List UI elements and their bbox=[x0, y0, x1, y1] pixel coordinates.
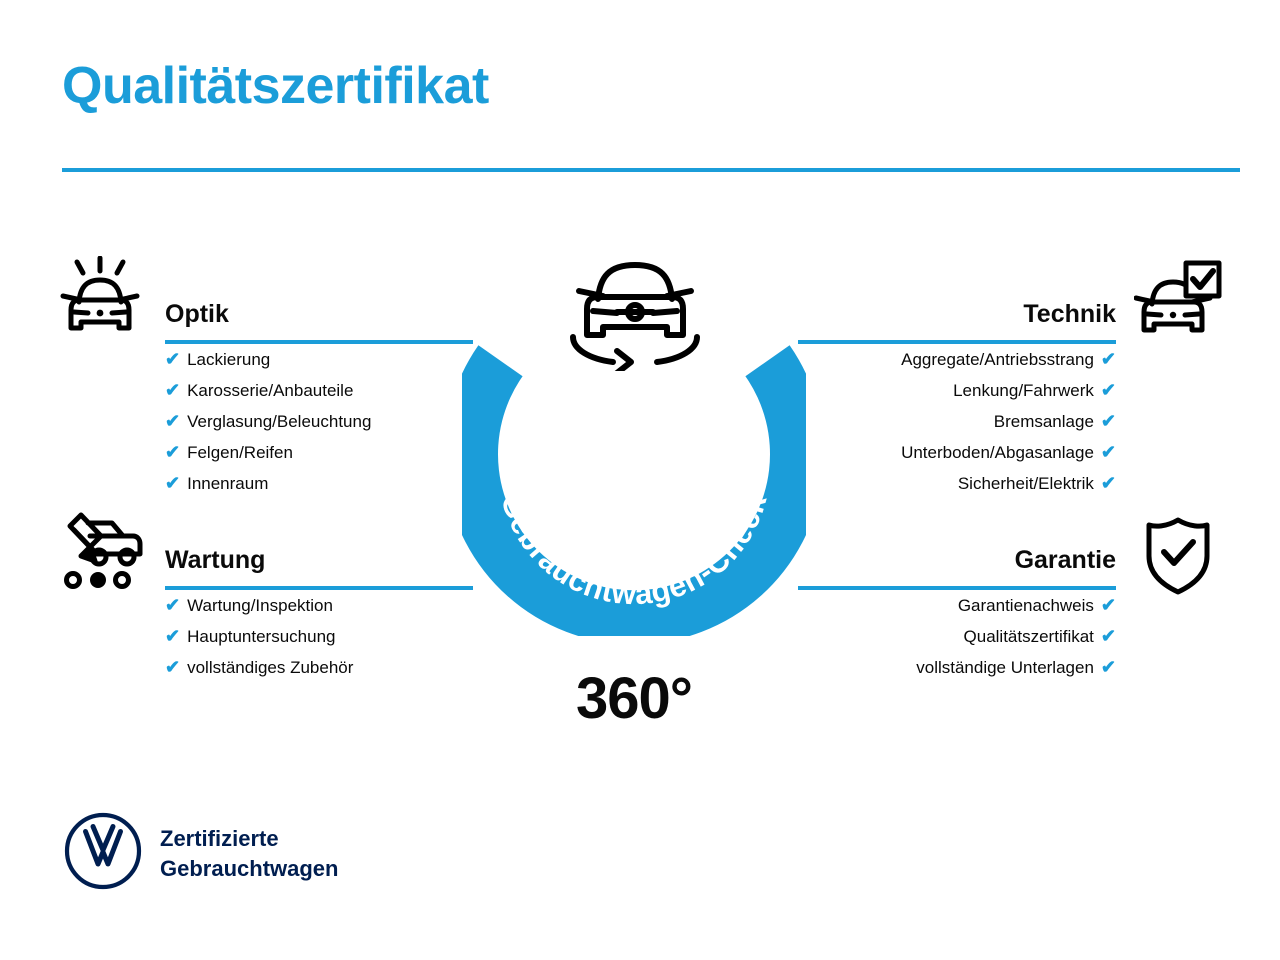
check-icon: ✔ bbox=[165, 468, 180, 498]
list-item: Sicherheit/Elektrik✔ bbox=[798, 468, 1116, 499]
list-item: ✔Wartung/Inspektion bbox=[165, 590, 473, 621]
section-garantie-divider bbox=[798, 586, 1116, 590]
check-icon: ✔ bbox=[1101, 344, 1116, 374]
list-item: Lenkung/Fahrwerk✔ bbox=[798, 375, 1116, 406]
shield-check-icon bbox=[1143, 516, 1213, 601]
section-wartung-title: Wartung bbox=[165, 544, 473, 576]
section-garantie: Garantie Garantienachweis✔Qualitätszerti… bbox=[798, 544, 1116, 683]
check-icon: ✔ bbox=[1101, 437, 1116, 467]
car-polish-icon bbox=[57, 256, 143, 347]
check-icon: ✔ bbox=[165, 437, 180, 467]
list-item-label: Lenkung/Fahrwerk bbox=[953, 381, 1094, 400]
list-item: vollständige Unterlagen✔ bbox=[798, 652, 1116, 683]
list-item-label: Aggregate/Antriebsstrang bbox=[901, 350, 1094, 369]
badge-value: 360° bbox=[462, 665, 806, 732]
list-item-label: Innenraum bbox=[187, 474, 268, 493]
section-optik-title: Optik bbox=[165, 298, 473, 330]
section-optik-list: ✔Lackierung✔Karosserie/Anbauteile✔Vergla… bbox=[165, 344, 473, 499]
list-item-label: Karosserie/Anbauteile bbox=[187, 381, 353, 400]
car-rotation-icon bbox=[565, 251, 705, 376]
list-item-label: vollständiges Zubehör bbox=[187, 658, 353, 677]
list-item-label: Hauptuntersuchung bbox=[187, 627, 335, 646]
section-wartung-list: ✔Wartung/Inspektion✔Hauptuntersuchung✔vo… bbox=[165, 590, 473, 683]
list-item: ✔Lackierung bbox=[165, 344, 473, 375]
section-technik-header: Technik bbox=[798, 298, 1116, 344]
check-icon: ✔ bbox=[1101, 375, 1116, 405]
list-item-label: Unterboden/Abgasanlage bbox=[901, 443, 1094, 462]
list-item-label: Verglasung/Beleuchtung bbox=[187, 412, 371, 431]
badge-360-check: Gebrauchtwagen-Check 360° bbox=[462, 246, 806, 636]
section-technik-divider bbox=[798, 340, 1116, 344]
list-item: Aggregate/Antriebsstrang✔ bbox=[798, 344, 1116, 375]
section-technik-list: Aggregate/Antriebsstrang✔Lenkung/Fahrwer… bbox=[798, 344, 1116, 499]
check-icon: ✔ bbox=[165, 652, 180, 682]
volkswagen-logo bbox=[64, 812, 142, 895]
section-garantie-header: Garantie bbox=[798, 544, 1116, 590]
section-optik: Optik ✔Lackierung✔Karosserie/Anbauteile✔… bbox=[165, 298, 473, 499]
check-icon: ✔ bbox=[165, 406, 180, 436]
list-item-label: Sicherheit/Elektrik bbox=[958, 474, 1094, 493]
check-icon: ✔ bbox=[1101, 621, 1116, 651]
list-item-label: Garantienachweis bbox=[958, 596, 1094, 615]
check-icon: ✔ bbox=[1101, 590, 1116, 620]
footer-brand: Zertifizierte Gebrauchtwagen bbox=[64, 812, 338, 895]
section-wartung-divider bbox=[165, 586, 473, 590]
list-item: Unterboden/Abgasanlage✔ bbox=[798, 437, 1116, 468]
section-optik-header: Optik bbox=[165, 298, 473, 344]
list-item-label: Lackierung bbox=[187, 350, 270, 369]
car-service-record-icon bbox=[57, 510, 147, 597]
check-icon: ✔ bbox=[1101, 652, 1116, 682]
list-item-label: Wartung/Inspektion bbox=[187, 596, 333, 615]
list-item: ✔Hauptuntersuchung bbox=[165, 621, 473, 652]
title-divider bbox=[62, 168, 1240, 172]
list-item: Bremsanlage✔ bbox=[798, 406, 1116, 437]
check-icon: ✔ bbox=[165, 590, 180, 620]
check-icon: ✔ bbox=[1101, 468, 1116, 498]
check-icon: ✔ bbox=[165, 375, 180, 405]
section-technik: Technik Aggregate/Antriebsstrang✔Lenkung… bbox=[798, 298, 1116, 499]
list-item: ✔vollständiges Zubehör bbox=[165, 652, 473, 683]
list-item: Garantienachweis✔ bbox=[798, 590, 1116, 621]
list-item-label: vollständige Unterlagen bbox=[916, 658, 1094, 677]
check-icon: ✔ bbox=[165, 344, 180, 374]
section-wartung-header: Wartung bbox=[165, 544, 473, 590]
section-optik-divider bbox=[165, 340, 473, 344]
list-item: Qualitätszertifikat✔ bbox=[798, 621, 1116, 652]
section-wartung: Wartung ✔Wartung/Inspektion✔Hauptuntersu… bbox=[165, 544, 473, 683]
list-item: ✔Verglasung/Beleuchtung bbox=[165, 406, 473, 437]
check-icon: ✔ bbox=[165, 621, 180, 651]
footer-brand-text: Zertifizierte Gebrauchtwagen bbox=[160, 824, 338, 884]
check-icon: ✔ bbox=[1101, 406, 1116, 436]
car-checkbox-icon bbox=[1134, 260, 1222, 347]
section-technik-title: Technik bbox=[798, 298, 1116, 330]
list-item-label: Bremsanlage bbox=[994, 412, 1094, 431]
list-item-label: Felgen/Reifen bbox=[187, 443, 293, 462]
list-item: ✔Innenraum bbox=[165, 468, 473, 499]
list-item: ✔Felgen/Reifen bbox=[165, 437, 473, 468]
list-item-label: Qualitätszertifikat bbox=[964, 627, 1094, 646]
section-garantie-title: Garantie bbox=[798, 544, 1116, 576]
page-title: Qualitätszertifikat bbox=[62, 58, 489, 115]
list-item: ✔Karosserie/Anbauteile bbox=[165, 375, 473, 406]
section-garantie-list: Garantienachweis✔Qualitätszertifikat✔vol… bbox=[798, 590, 1116, 683]
